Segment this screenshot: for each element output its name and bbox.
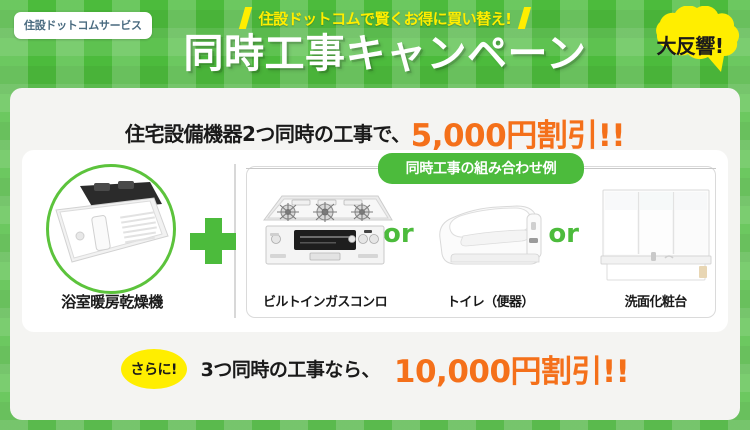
toilet-icon <box>415 186 565 282</box>
campaign-banner: 住設ドットコムサービス 住設ドットコムで賢くお得に買い替え! 同時工事キャンペー… <box>0 0 750 430</box>
combo-line-left <box>246 168 378 169</box>
bathroom-heater-dryer-icon <box>50 180 174 272</box>
combo-heading-label: 同時工事の組み合わせ例 <box>378 153 585 184</box>
footer-lead-text: 3つ同時の工事なら、 <box>201 355 380 382</box>
combo-item-caption: 洗面化粧台 <box>581 291 731 310</box>
slash-right-icon <box>518 7 531 29</box>
burst-label: 大反響! <box>638 30 742 59</box>
combo-heading: 同時工事の組み合わせ例 <box>246 155 716 181</box>
service-badge: 住設ドットコムサービス <box>14 12 152 39</box>
footer-discount-row: さらに! 3つ同時の工事なら、 10,000円割引!! <box>10 346 740 391</box>
featured-product-label: 浴室暖房乾燥機 <box>32 291 192 312</box>
combo-item-toilet: トイレ（便器） <box>415 186 546 312</box>
combo-item-list: ビルトインガスコンロ or トイレ（便器） <box>250 186 712 314</box>
discount-headline: 住宅設備機器2つ同時の工事で、5,000円割引!! <box>10 110 740 155</box>
combo-item-caption: ビルトインガスコンロ <box>250 291 400 310</box>
bathroom-vanity-icon <box>581 186 731 282</box>
footer-amount-text: 10,000円割引!! <box>394 346 629 391</box>
combo-item-caption: トイレ（便器） <box>415 291 565 310</box>
product-card: 浴室暖房乾燥機 同時工事の組み合わせ例 <box>22 150 728 332</box>
title-block: 住設ドットコムで賢くお得に買い替え! 同時工事キャンペーン <box>150 6 620 77</box>
slash-left-icon <box>238 7 251 29</box>
burst-badge: 大反響! <box>638 6 742 78</box>
combo-line-right <box>584 168 716 169</box>
combo-item-vanity: 洗面化粧台 <box>581 186 712 312</box>
page-title: 同時工事キャンペーン <box>150 31 620 77</box>
built-in-gas-stove-icon <box>250 186 400 282</box>
combo-item-gas-stove: ビルトインガスコンロ <box>250 186 381 312</box>
headline-amount-text: 5,000円割引!! <box>411 118 625 154</box>
headline-lead-text: 住宅設備機器2つ同時の工事で、 <box>125 122 411 146</box>
featured-product: 浴室暖房乾燥機 <box>32 158 192 324</box>
kicker-text: 住設ドットコムで賢くお得に買い替え! <box>259 8 512 29</box>
kicker-row: 住設ドットコムで賢くお得に買い替え! <box>150 6 620 30</box>
sarani-badge: さらに! <box>121 349 187 389</box>
banner-header: 住設ドットコムサービス 住設ドットコムで賢くお得に買い替え! 同時工事キャンペー… <box>0 0 750 86</box>
plus-icon <box>190 218 236 264</box>
content-panel: 住宅設備機器2つ同時の工事で、5,000円割引!! <box>10 88 740 420</box>
